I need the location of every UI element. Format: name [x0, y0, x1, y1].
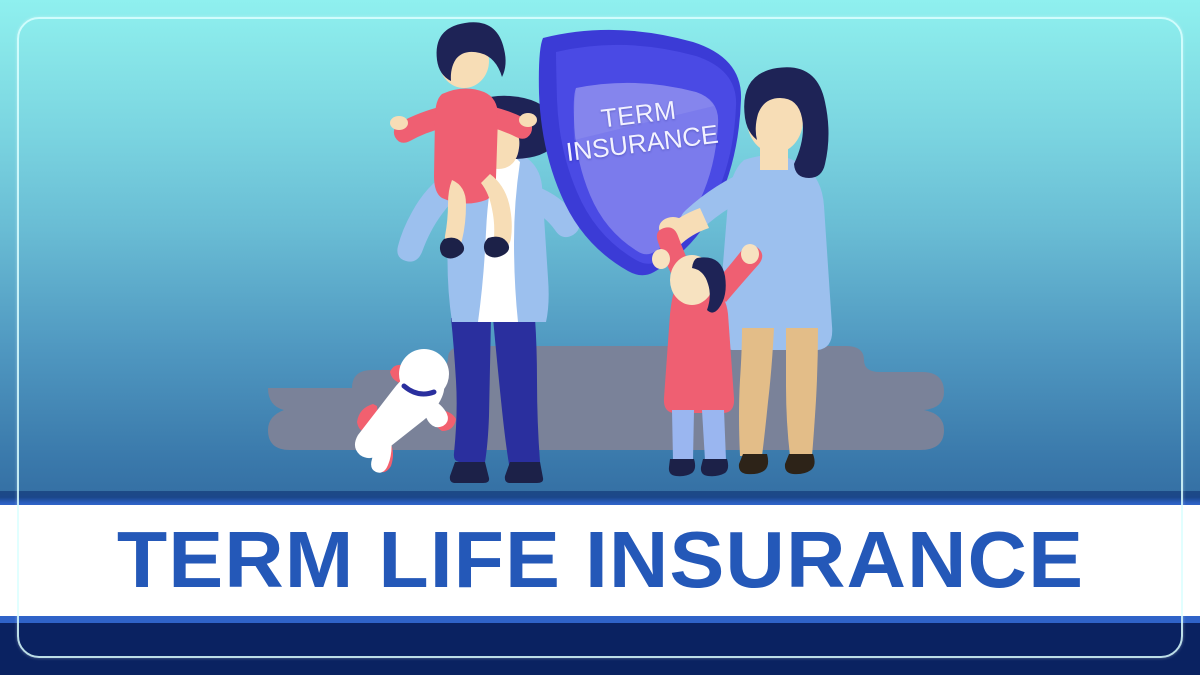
banner-accent-stripe — [0, 616, 1200, 623]
family-illustration: TERM INSURANCE — [0, 0, 1200, 500]
banner-top-stripe — [0, 491, 1200, 505]
banner-white-band: TERM LIFE INSURANCE — [0, 505, 1200, 616]
title-banner: TERM LIFE INSURANCE — [0, 491, 1200, 675]
illustration-svg — [0, 0, 1200, 500]
poster-canvas: TERM INSURANCE TERM LIFE INSURANCE — [0, 0, 1200, 675]
page-title: TERM LIFE INSURANCE — [116, 520, 1083, 600]
banner-bottom-band — [0, 623, 1200, 675]
dog-icon — [355, 349, 456, 473]
